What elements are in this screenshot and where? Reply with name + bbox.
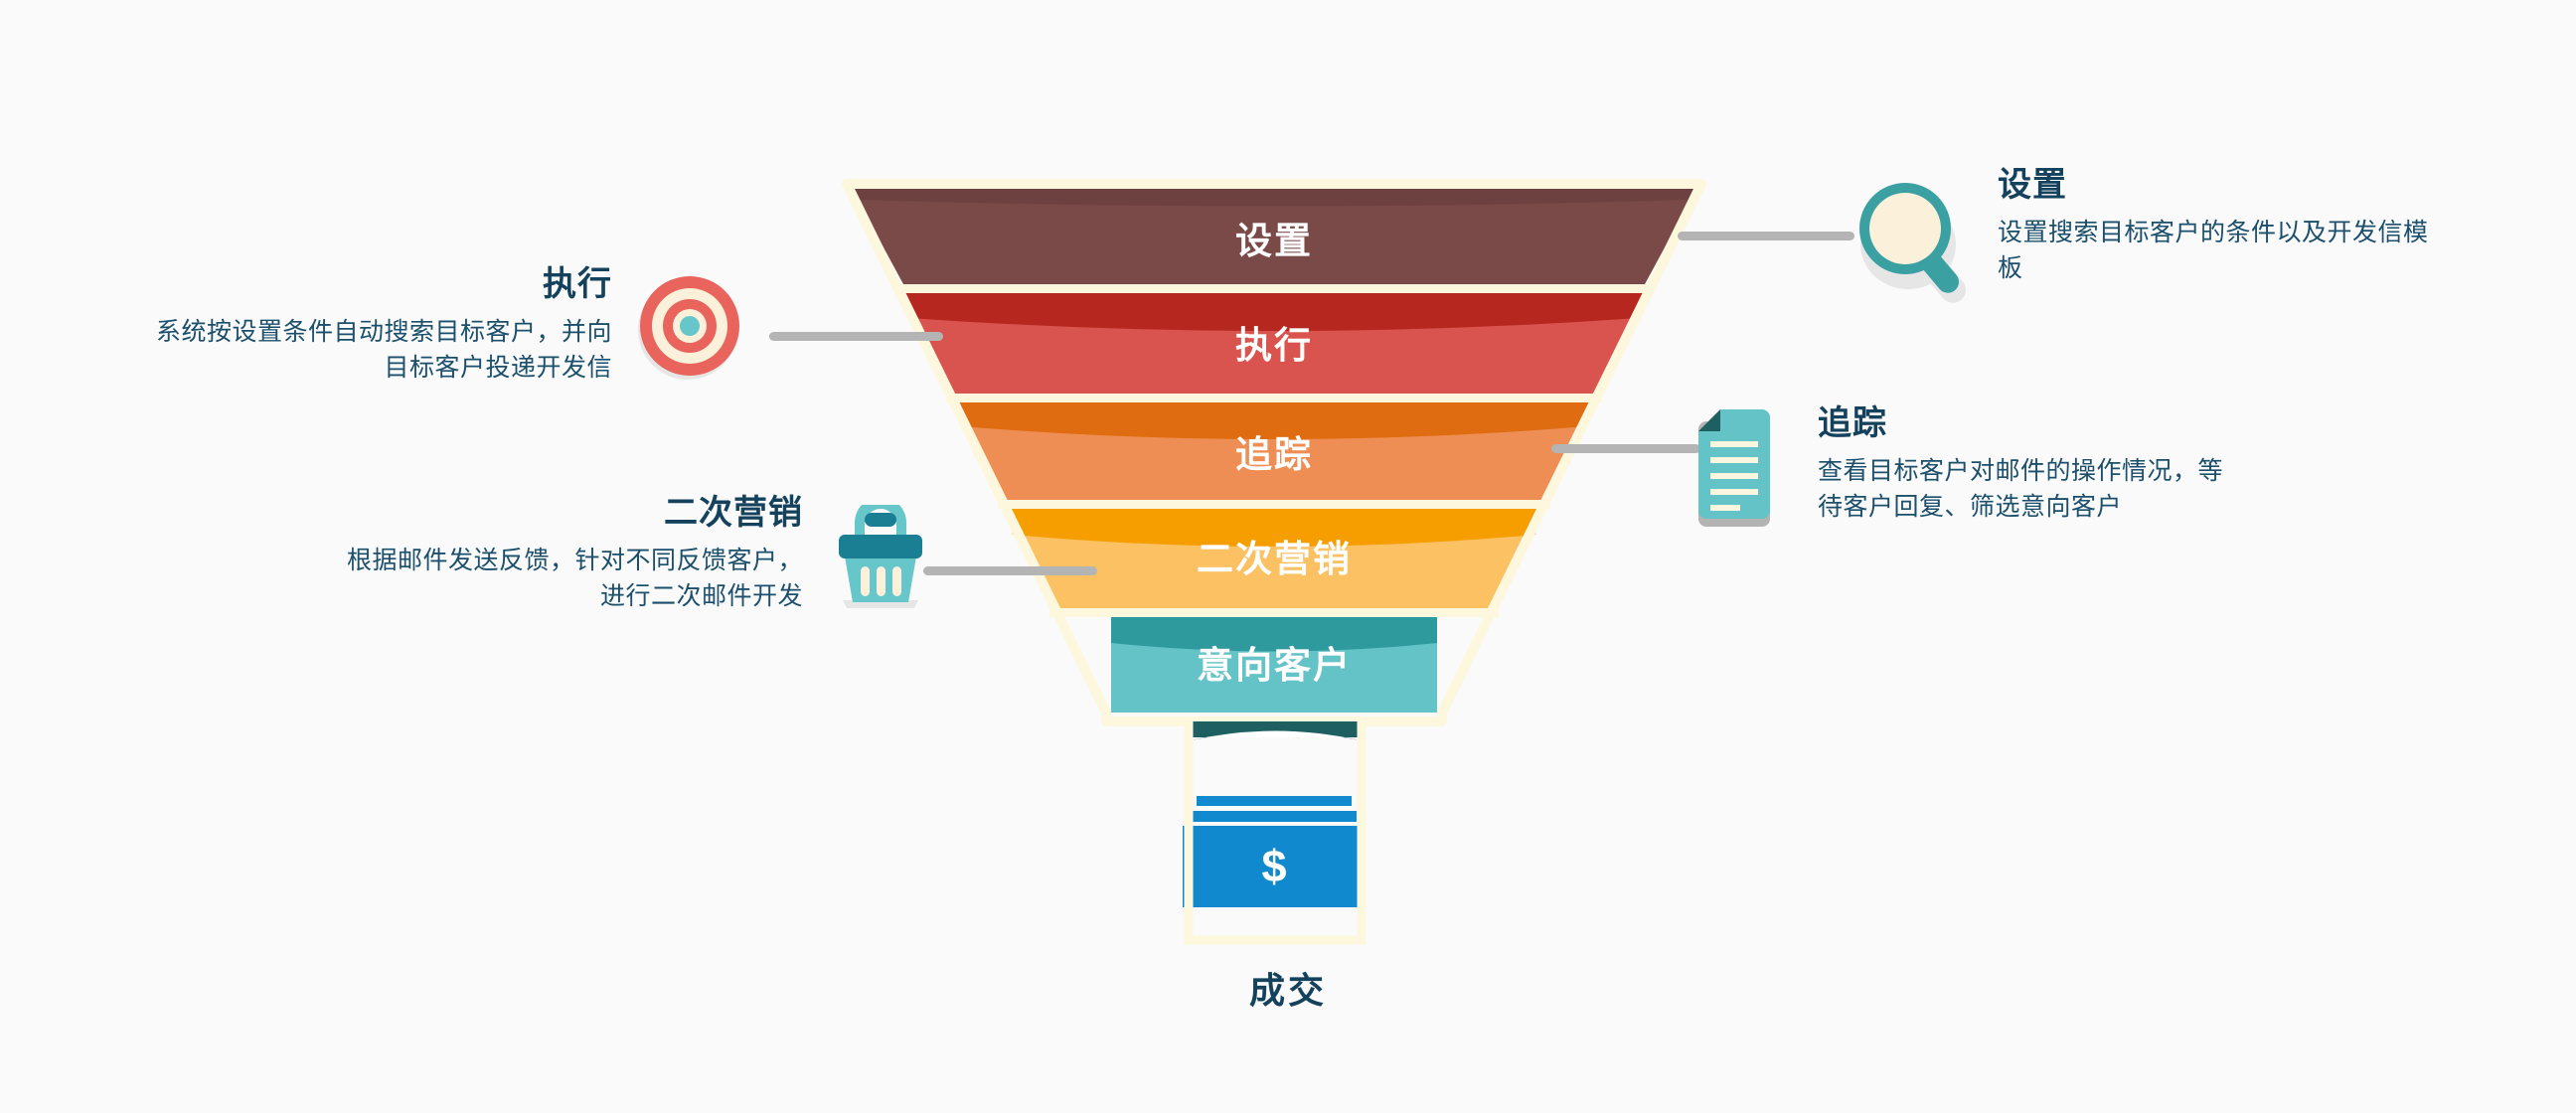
magnifier-icon xyxy=(1849,167,1976,306)
callout-track-text: 追踪 查看目标客户对邮件的操作情况，等待客户回复、筛选意向客户 xyxy=(1818,405,2235,525)
funnel-stage-setting[interactable]: 设置 xyxy=(852,189,1696,284)
funnel-outlet: $ xyxy=(1183,721,1366,940)
connector-line-execute xyxy=(769,332,943,341)
callout-remarket-title: 二次营销 xyxy=(328,495,803,532)
basket-icon xyxy=(827,505,934,608)
infographic-canvas: 设置 执行 追踪 二次营销 意向客户 xyxy=(0,0,2576,1113)
callout-track[interactable]: 追踪 查看目标客户对邮件的操作情况，等待客户回复、筛选意向客户 xyxy=(1685,405,2380,533)
outlet-bar-bottom xyxy=(1192,811,1357,822)
funnel-stage-intent[interactable]: 意向客户 xyxy=(1111,617,1437,713)
outlet-bar-top xyxy=(1197,796,1352,806)
document-icon xyxy=(1685,405,1792,533)
dollar-symbol: $ xyxy=(1261,841,1286,891)
funnel-stage-label-setting: 设置 xyxy=(1235,221,1313,261)
callout-track-title: 追踪 xyxy=(1818,405,2235,442)
callout-execute-title: 执行 xyxy=(149,266,612,303)
funnel-stage-label-execute: 执行 xyxy=(1235,325,1313,366)
funnel-separator-3 xyxy=(998,500,1550,509)
callout-execute-text: 执行 系统按设置条件自动搜索目标客户，并向目标客户投递开发信 xyxy=(149,266,612,386)
funnel-separator-1 xyxy=(894,284,1654,293)
callout-remarket-body: 根据邮件发送反馈，针对不同反馈客户，进行二次邮件开发 xyxy=(328,544,803,614)
funnel-stage-remarket[interactable]: 二次营销 xyxy=(1007,509,1541,608)
funnel-separator-2 xyxy=(946,394,1602,402)
callout-setting-text: 设置 设置搜索目标客户的条件以及开发信模板 xyxy=(1998,167,2435,286)
funnel-stage-track[interactable]: 追踪 xyxy=(955,402,1593,500)
callout-setting[interactable]: 设置 设置搜索目标客户的条件以及开发信模板 xyxy=(1849,167,2485,306)
callout-execute-body: 系统按设置条件自动搜索目标客户，并向目标客户投递开发信 xyxy=(149,315,612,386)
callout-execute[interactable]: 执行 系统按设置条件自动搜索目标客户，并向目标客户投递开发信 xyxy=(149,266,745,386)
connector-line-setting xyxy=(1678,232,1854,240)
funnel-stage-label-track: 追踪 xyxy=(1235,434,1313,475)
funnel-stage-label-intent: 意向客户 xyxy=(1197,645,1352,686)
callout-setting-body: 设置搜索目标客户的条件以及开发信模板 xyxy=(1998,216,2435,286)
target-icon xyxy=(634,270,745,382)
deal-label: 成交 xyxy=(0,962,2576,1014)
funnel-stage-label-remarket: 二次营销 xyxy=(1197,539,1352,579)
funnel-separator-4 xyxy=(1049,608,1499,617)
connector-line-remarket xyxy=(923,566,1097,575)
callout-remarket-text: 二次营销 根据邮件发送反馈，针对不同反馈客户，进行二次邮件开发 xyxy=(328,495,803,614)
callout-track-body: 查看目标客户对邮件的操作情况，等待客户回复、筛选意向客户 xyxy=(1818,454,2235,525)
callout-remarket[interactable]: 二次营销 根据邮件发送反馈，针对不同反馈客户，进行二次邮件开发 xyxy=(328,495,934,614)
callout-setting-title: 设置 xyxy=(1998,167,2435,204)
funnel-stage-execute[interactable]: 执行 xyxy=(903,293,1645,394)
connector-line-track xyxy=(1551,444,1700,453)
